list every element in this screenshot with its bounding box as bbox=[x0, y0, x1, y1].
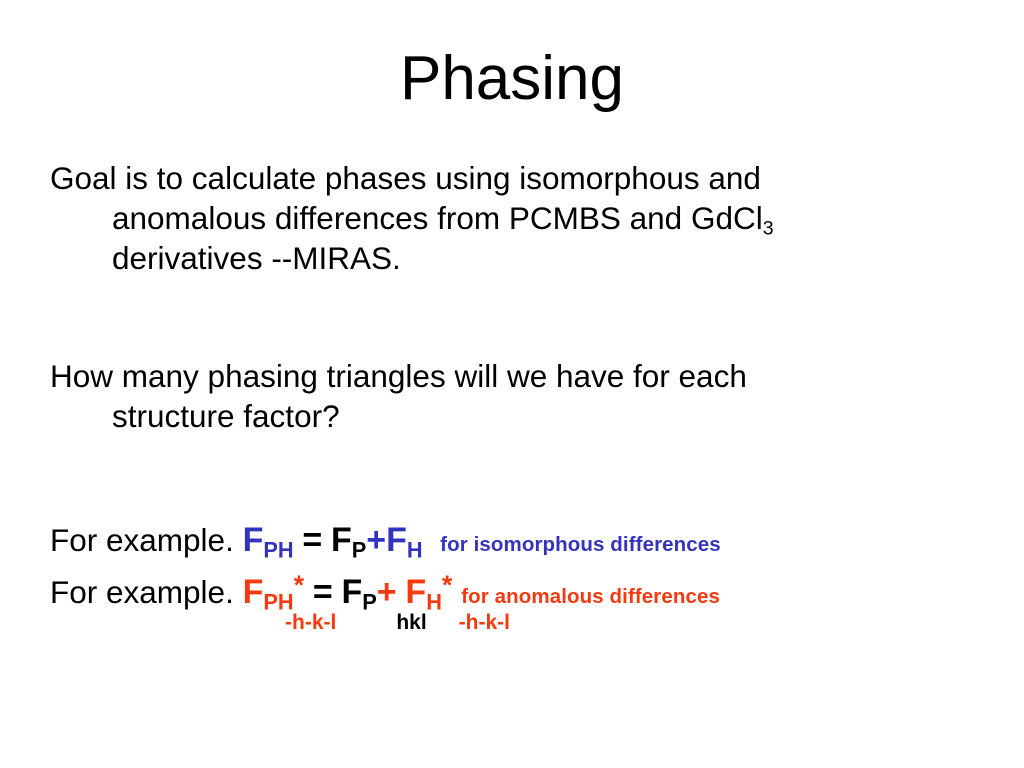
formula-anomalous-rhs2-symbol: F bbox=[405, 573, 426, 611]
formula-isomorphous: For example. FPH = FP+FH for isomorphous… bbox=[50, 518, 980, 567]
paragraph-question-line-1: How many phasing triangles will we have … bbox=[50, 356, 980, 396]
formula-isomorphous-rhs1: FP bbox=[331, 521, 366, 559]
gdcl-subscript: 3 bbox=[763, 217, 774, 239]
formula-isomorphous-rhs1-subscript: P bbox=[352, 538, 367, 563]
formula-anomalous-rhs1: FP bbox=[342, 573, 377, 611]
formula-anomalous-tagline: for anomalous differences bbox=[461, 585, 720, 608]
formula-isomorphous-lhs-subscript: PH bbox=[263, 538, 293, 563]
paragraph-goal-line-2: anomalous differences from PCMBS and GdC… bbox=[50, 198, 980, 238]
formula-anomalous-lhs: FPH* bbox=[243, 573, 305, 611]
paragraph-goal-line-1: Goal is to calculate phases using isomor… bbox=[50, 158, 980, 198]
paragraph-question-line-2: structure factor? bbox=[50, 396, 980, 436]
miller-index-right: -h-k-l bbox=[459, 611, 510, 635]
miller-index-row: -h-k-lhkl-h-k-l bbox=[285, 611, 985, 635]
formula-isomorphous-rhs1-symbol: F bbox=[331, 521, 352, 559]
slide-canvas: Phasing Goal is to calculate phases usin… bbox=[0, 0, 1024, 768]
formula-anomalous-lead: For example. bbox=[50, 574, 234, 610]
formula-isomorphous-rhs2-symbol: F bbox=[386, 521, 407, 559]
formula-isomorphous-rhs2-subscript: H bbox=[407, 538, 423, 563]
formula-anomalous-equals: = bbox=[313, 573, 333, 611]
slide-body: Goal is to calculate phases using isomor… bbox=[50, 158, 980, 622]
formula-anomalous-rhs2: FH* bbox=[405, 573, 452, 611]
miller-index-middle: hkl bbox=[396, 611, 426, 635]
formula-isomorphous-plus: + bbox=[366, 521, 386, 559]
formula-anomalous-lhs-star: * bbox=[294, 570, 305, 600]
formula-isomorphous-equals: = bbox=[302, 521, 322, 559]
paragraph-goal: Goal is to calculate phases using isomor… bbox=[50, 158, 980, 278]
formula-isomorphous-lead: For example. bbox=[50, 522, 234, 558]
paragraph-question: How many phasing triangles will we have … bbox=[50, 356, 980, 436]
formula-anomalous-rhs1-symbol: F bbox=[342, 573, 363, 611]
paragraph-spacer-2 bbox=[50, 436, 980, 518]
miller-index-left: -h-k-l bbox=[285, 611, 336, 635]
formula-isomorphous-rhs2: FH bbox=[386, 521, 423, 559]
formula-isomorphous-tagline: for isomorphous differences bbox=[440, 533, 721, 556]
formula-anomalous-lhs-symbol: F bbox=[243, 573, 264, 611]
formula-isomorphous-lhs: FPH bbox=[243, 521, 294, 559]
page-title: Phasing bbox=[0, 46, 1024, 111]
formula-isomorphous-lhs-symbol: F bbox=[243, 521, 264, 559]
paragraph-goal-line-3: derivatives --MIRAS. bbox=[50, 238, 980, 278]
paragraph-goal-line-2-text: anomalous differences from PCMBS and GdC… bbox=[112, 200, 763, 236]
paragraph-spacer-1 bbox=[50, 278, 980, 356]
formula-anomalous-plus: + bbox=[377, 573, 397, 611]
formula-anomalous-rhs2-star: * bbox=[442, 570, 453, 600]
